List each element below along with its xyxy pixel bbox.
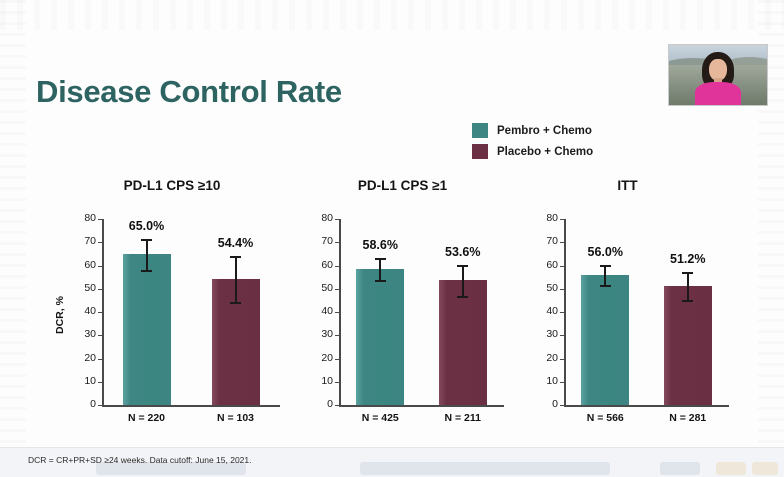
chart-panel-2: PD-L1 CPS ≥10102030405060708058.6%N = 42… (295, 178, 510, 428)
slide-canvas: Disease Control Rate Pembro + ChemoPlace… (0, 0, 784, 476)
y-axis-tick-label: 80 (311, 213, 333, 224)
band-chip (752, 462, 778, 475)
legend-item: Placebo + Chemo (472, 141, 593, 162)
plot-area: 0102030405060708058.6%N = 42553.6%N = 21… (295, 205, 510, 417)
y-axis-tick-label: 80 (74, 213, 96, 224)
error-bar-cap-lower (141, 270, 152, 272)
background-artifact-left (0, 0, 26, 476)
plot-area: 0102030405060708056.0%N = 56651.2%N = 28… (520, 205, 735, 417)
y-axis-tick-label: 10 (536, 376, 558, 387)
bar-value-label: 54.4% (201, 236, 271, 250)
chart-panel-1: PD-L1 CPS ≥10DCR, %0102030405060708065.0… (58, 178, 286, 428)
bar-pembro (123, 254, 171, 405)
error-bar (379, 258, 381, 280)
bar-value-label: 53.6% (428, 245, 498, 259)
y-axis-tick-label: 60 (536, 260, 558, 271)
y-axis-tick-label: 80 (536, 213, 558, 224)
y-axis-tick-label: 30 (311, 329, 333, 340)
chart-panel-title: PD-L1 CPS ≥1 (295, 178, 510, 193)
y-axis-tick-label: 10 (311, 376, 333, 387)
y-axis-tick-label: 20 (74, 353, 96, 364)
y-axis-tick-label: 30 (74, 329, 96, 340)
y-axis-tick-label: 60 (74, 260, 96, 271)
background-artifact-top (0, 0, 784, 30)
x-axis-line (564, 405, 729, 407)
y-axis-tick-label: 70 (311, 236, 333, 247)
footnote: DCR = CR+PR+SD ≥24 weeks. Data cutoff: J… (28, 455, 252, 465)
bar-pembro (581, 275, 629, 405)
bar-placebo (664, 286, 712, 405)
error-bar (462, 265, 464, 297)
error-bar-cap-lower (457, 296, 468, 298)
y-axis-tick-label: 20 (536, 353, 558, 364)
sample-size-label: N = 281 (653, 412, 723, 424)
y-axis-tick-label: 10 (74, 376, 96, 387)
legend-item: Pembro + Chemo (472, 120, 593, 141)
band-chip (660, 462, 700, 475)
legend-swatch-icon (472, 144, 488, 159)
y-axis-tick-label: 0 (74, 399, 96, 410)
bar-value-label: 56.0% (570, 245, 640, 259)
bar-placebo (439, 280, 487, 405)
sample-size-label: N = 425 (345, 412, 415, 424)
legend-swatch-icon (472, 123, 488, 138)
sample-size-label: N = 220 (112, 412, 182, 424)
error-bar-cap-upper (230, 256, 241, 258)
x-axis-line (339, 405, 504, 407)
legend-item-label: Placebo + Chemo (497, 146, 593, 158)
band-chip (360, 462, 610, 475)
presenter-torso (695, 82, 740, 106)
chart-panel-3: ITT0102030405060708056.0%N = 56651.2%N =… (520, 178, 735, 428)
error-bar-cap-upper (141, 239, 152, 241)
y-axis-tick-label: 60 (311, 260, 333, 271)
chart-panel-title: ITT (520, 178, 735, 193)
y-axis-tick-label: 20 (311, 353, 333, 364)
legend-item-label: Pembro + Chemo (497, 125, 592, 137)
y-axis-tick-label: 0 (311, 399, 333, 410)
y-axis-tick-label: 40 (74, 306, 96, 317)
y-axis-title: DCR, % (54, 296, 66, 334)
y-axis-tick-label: 40 (311, 306, 333, 317)
error-bar (687, 272, 689, 299)
y-axis-tick-label: 70 (74, 236, 96, 247)
chart-legend: Pembro + ChemoPlacebo + Chemo (472, 120, 593, 162)
presenter-video-thumbnail[interactable] (668, 44, 768, 106)
sample-size-label: N = 566 (570, 412, 640, 424)
x-axis-line (102, 405, 280, 407)
y-axis-tick-label: 0 (536, 399, 558, 410)
error-bar (235, 256, 237, 303)
chart-panel-title: PD-L1 CPS ≥10 (58, 178, 286, 193)
error-bar-cap-upper (457, 265, 468, 267)
error-bar (146, 239, 148, 270)
y-axis-tick-label: 30 (536, 329, 558, 340)
y-axis-tick-label: 50 (311, 283, 333, 294)
error-bar-cap-lower (600, 285, 611, 287)
y-axis-tick-label: 50 (536, 283, 558, 294)
bar-pembro (356, 269, 404, 405)
page-title: Disease Control Rate (36, 74, 342, 110)
error-bar-cap-lower (375, 280, 386, 282)
sample-size-label: N = 211 (428, 412, 498, 424)
y-axis-tick-label: 70 (536, 236, 558, 247)
error-bar-cap-upper (682, 272, 693, 274)
error-bar-cap-upper (375, 258, 386, 260)
bar-value-label: 58.6% (345, 238, 415, 252)
sample-size-label: N = 103 (201, 412, 271, 424)
y-axis-tick-label: 50 (74, 283, 96, 294)
y-axis-line (564, 219, 566, 406)
band-chip (716, 462, 746, 475)
y-axis-tick-label: 40 (536, 306, 558, 317)
y-axis-line (102, 219, 104, 406)
plot-area: DCR, %0102030405060708065.0%N = 22054.4%… (58, 205, 286, 417)
error-bar-cap-upper (600, 265, 611, 267)
bar-value-label: 51.2% (653, 252, 723, 266)
bar-value-label: 65.0% (112, 219, 182, 233)
y-axis-line (339, 219, 341, 406)
error-bar-cap-lower (230, 302, 241, 304)
error-bar-cap-lower (682, 300, 693, 302)
error-bar (604, 265, 606, 285)
